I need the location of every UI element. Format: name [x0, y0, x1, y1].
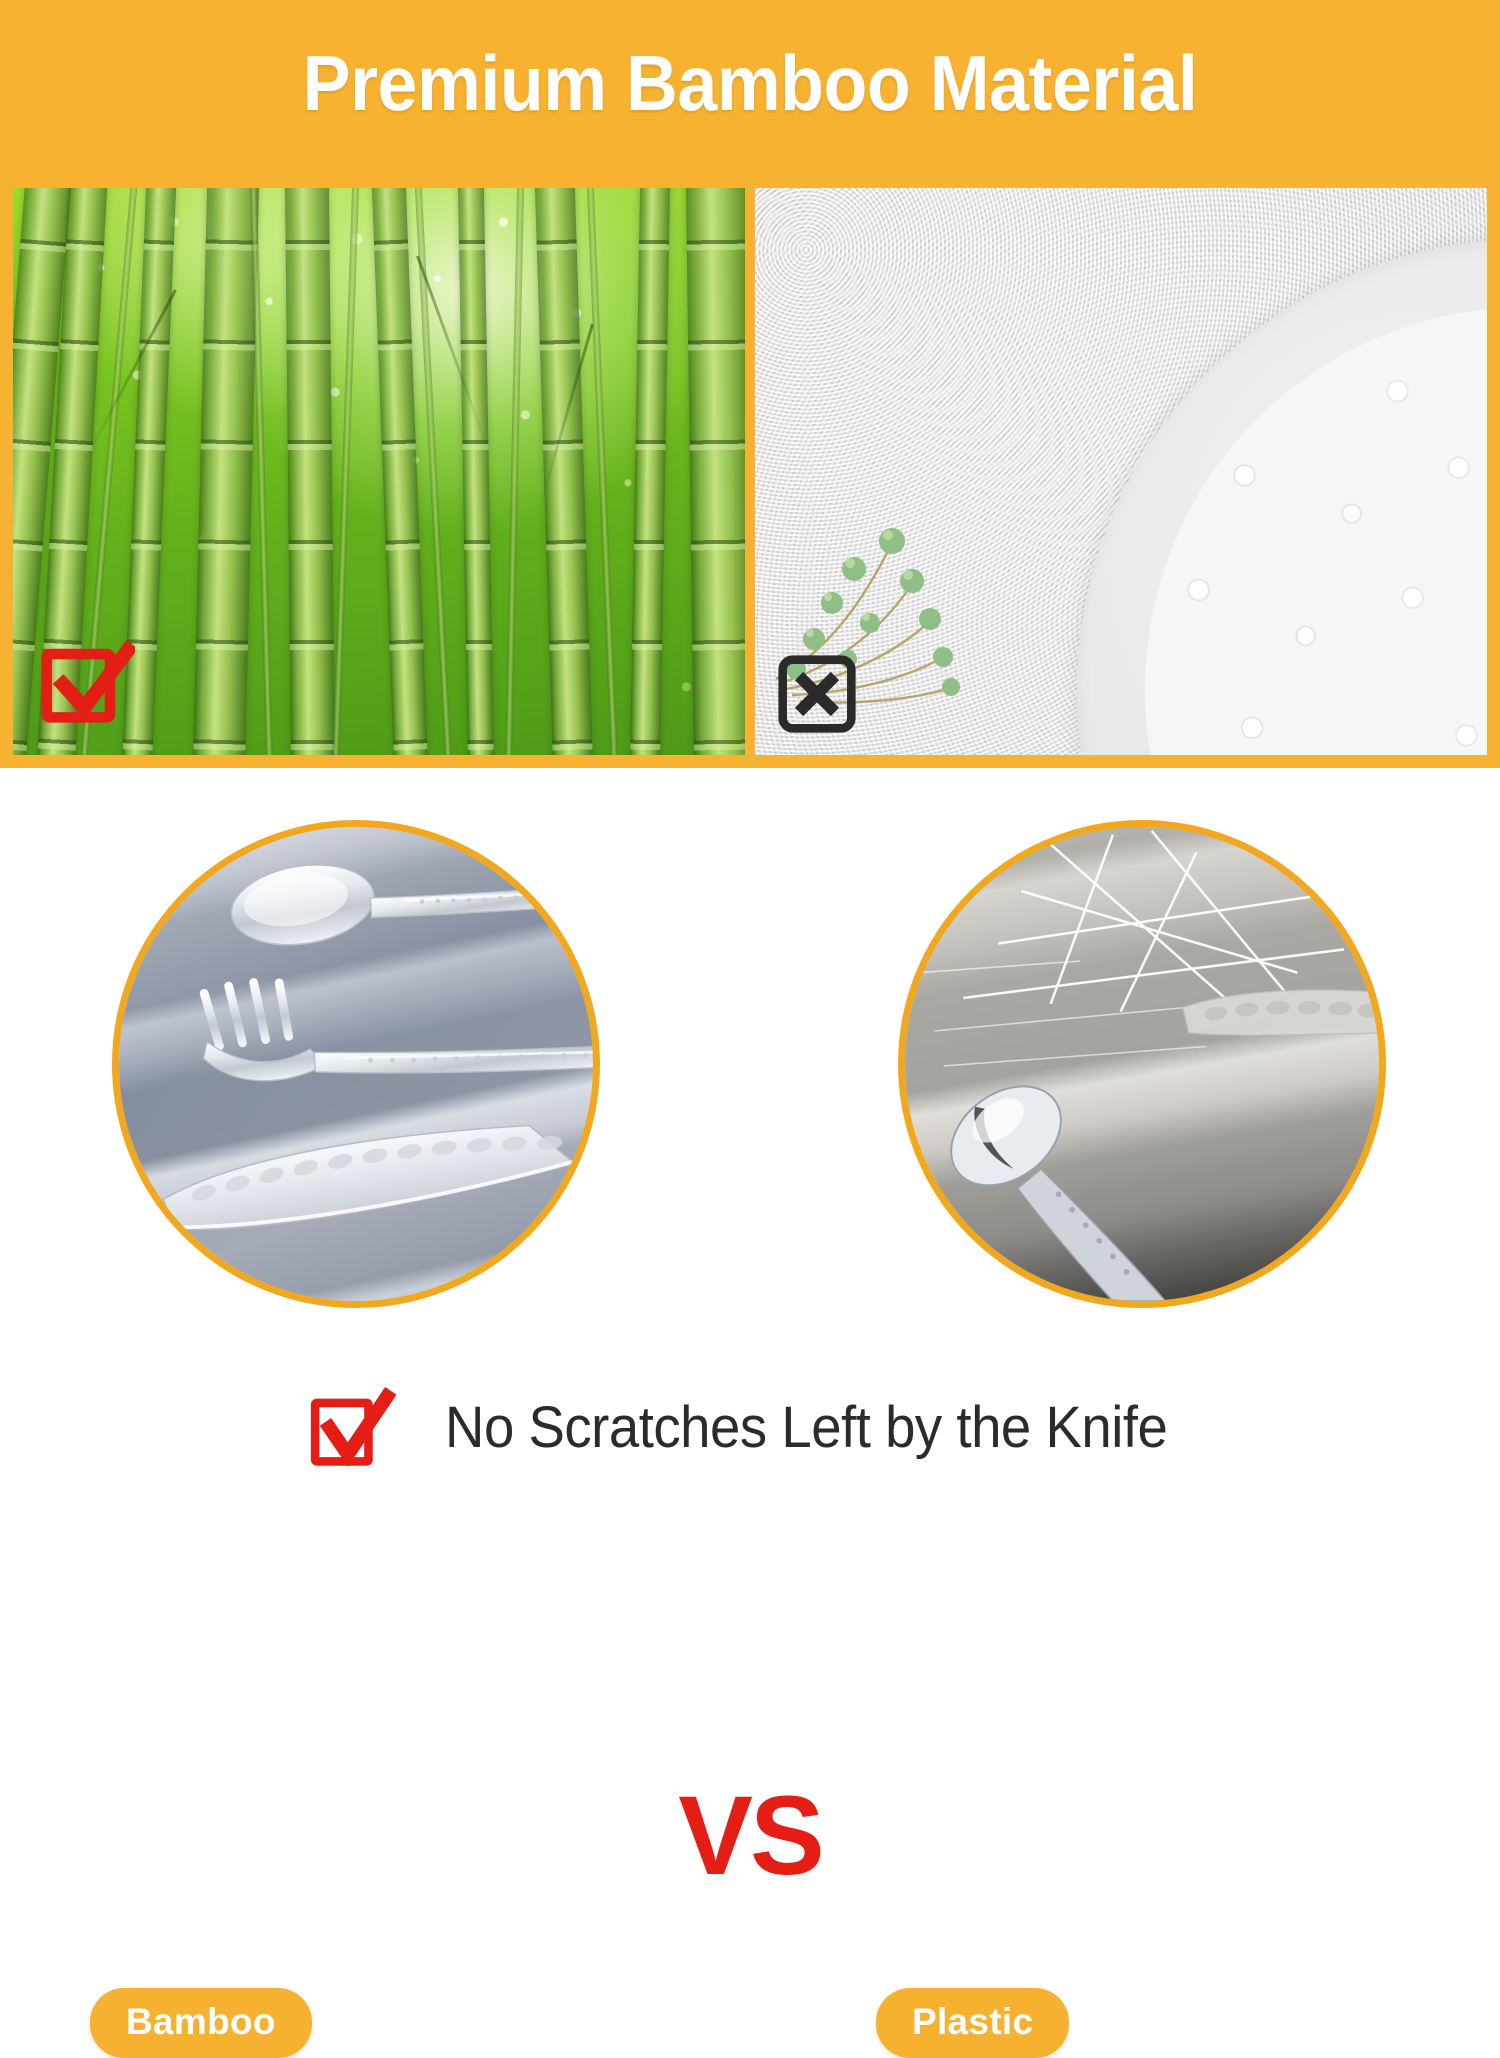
dish-interior: [1145, 307, 1487, 755]
checkbox-checked-icon: [310, 1384, 396, 1470]
spoon-icon: [226, 827, 588, 960]
footer-caption: No Scratches Left by the Knife: [0, 1382, 1500, 1472]
plastic-label-pill: Plastic: [876, 1988, 1069, 2058]
header-panel: Premium Bamboo Material: [0, 0, 1500, 768]
plastic-pellets: [1145, 307, 1487, 755]
bamboo-circle-frame: [112, 820, 600, 1308]
checkbox-checked-icon: [39, 631, 135, 727]
bamboo-culm: [284, 188, 335, 755]
footer-text: No Scratches Left by the Knife: [445, 1394, 1167, 1461]
spoon-icon: [932, 1066, 1165, 1301]
plastic-pellets-photo: [755, 188, 1487, 755]
page-title: Premium Bamboo Material: [60, 44, 1440, 122]
plastic-comparison-photo: [898, 820, 1386, 1308]
vs-label: VS: [0, 1780, 1500, 1892]
knife-icon: [159, 1110, 577, 1242]
knife-icon: [1183, 990, 1379, 1035]
cutlery-group: [119, 827, 593, 1301]
bamboo-label-pill: Bamboo: [90, 1988, 312, 2058]
bamboo-comparison-photo: [112, 820, 600, 1308]
comparison-section: Bamboo VS: [0, 768, 1500, 1388]
plastic-circle-frame: [898, 820, 1386, 1308]
bamboo-culm: [686, 188, 745, 755]
bamboo-forest-photo: [13, 188, 745, 755]
fork-icon: [194, 937, 593, 1122]
checkbox-x-icon: [778, 655, 856, 733]
scratch-marks: [905, 827, 1379, 1301]
